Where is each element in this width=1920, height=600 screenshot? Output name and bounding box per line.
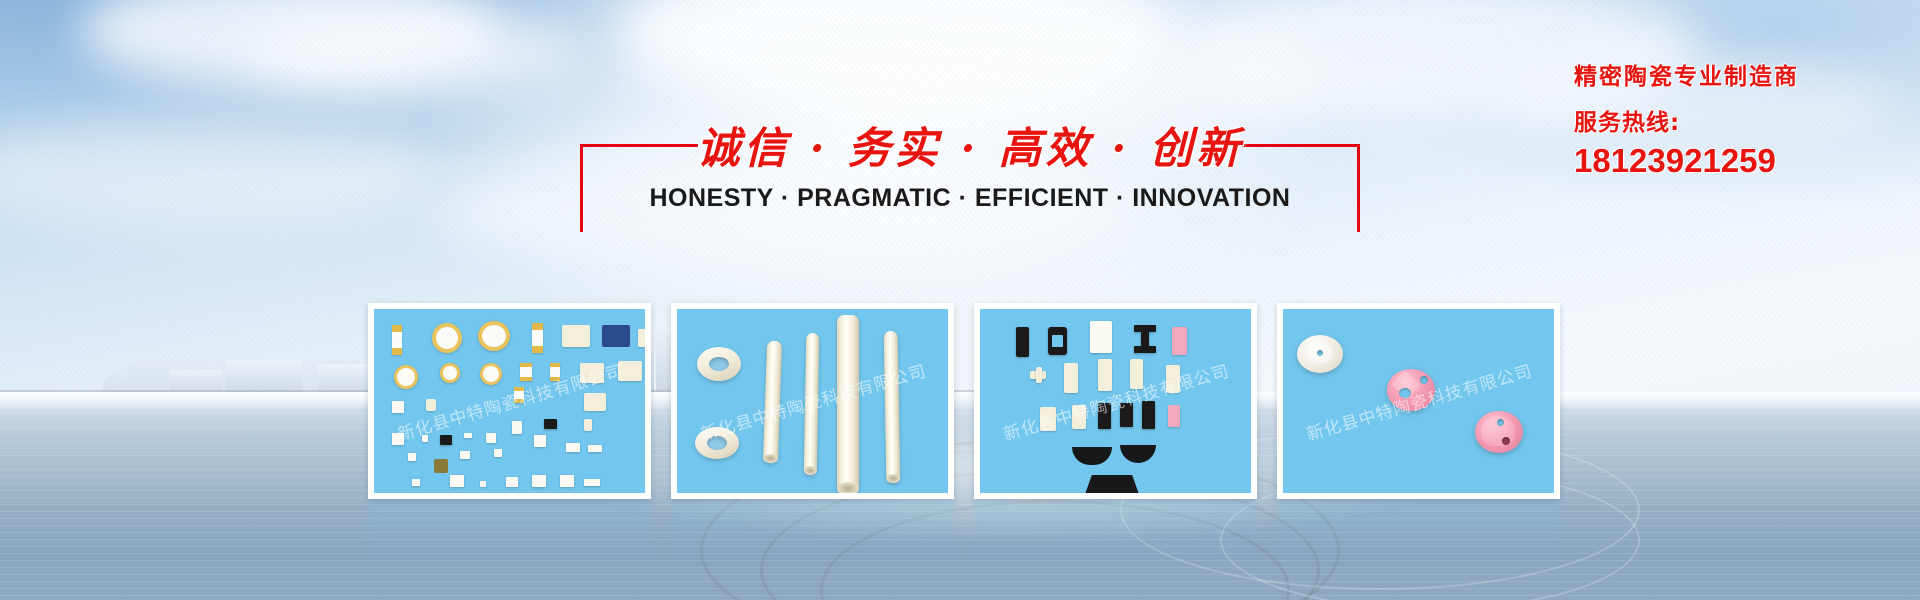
product-part — [1141, 331, 1149, 347]
product-part — [434, 459, 448, 473]
product-part — [426, 399, 436, 411]
product-part — [1052, 335, 1063, 347]
product-part — [480, 481, 486, 487]
product-part — [450, 475, 464, 487]
product-part — [480, 363, 502, 385]
product-part — [412, 479, 420, 486]
product-part — [1142, 401, 1155, 429]
product-part — [1134, 346, 1156, 353]
product-part — [1166, 365, 1180, 393]
product-part — [532, 475, 546, 487]
product-part — [1172, 327, 1187, 355]
slogan-chinese: 诚信 · 务实 · 高效 · 创新 — [580, 118, 1360, 180]
product-part — [584, 393, 606, 411]
product-part — [532, 323, 543, 353]
promotional-banner: 诚信 · 务实 · 高效 · 创新 HONESTY · PRAGMATIC · … — [0, 0, 1920, 600]
product-part — [695, 427, 739, 459]
panel-image-ceramic-discs: 新化县中特陶瓷科技有限公司 — [1283, 309, 1554, 493]
product-part — [602, 325, 630, 347]
contact-block: 精密陶瓷专业制造商 服务热线: 18123921259 — [1574, 62, 1914, 181]
product-panel-smd-ceramic-chips[interactable]: 新化县中特陶瓷科技有限公司 — [368, 303, 651, 499]
product-part — [560, 475, 574, 487]
product-part — [1120, 445, 1156, 463]
slogan-block: 诚信 · 务实 · 高效 · 创新 HONESTY · PRAGMATIC · … — [580, 118, 1360, 228]
product-part — [638, 329, 645, 347]
product-part — [1120, 403, 1133, 427]
product-part — [588, 445, 602, 452]
product-part — [534, 435, 546, 447]
product-part — [1387, 369, 1435, 411]
product-part — [562, 325, 590, 347]
product-panel-ceramic-discs[interactable]: 新化县中特陶瓷科技有限公司 — [1277, 303, 1560, 499]
product-part — [763, 341, 782, 463]
product-part — [580, 363, 604, 383]
product-part — [520, 363, 532, 381]
product-part — [464, 433, 472, 438]
product-part — [392, 433, 404, 445]
product-part — [584, 479, 600, 486]
product-part — [566, 443, 580, 452]
product-part — [1090, 321, 1112, 353]
panel-watermark: 新化县中特陶瓷科技有限公司 — [1000, 357, 1232, 446]
product-part — [697, 347, 741, 381]
product-part — [618, 361, 642, 381]
hotline-number[interactable]: 18123921259 — [1574, 141, 1914, 181]
panel-image-ceramic-blocks: 新化县中特陶瓷科技有限公司 — [980, 309, 1251, 493]
product-part — [584, 419, 592, 431]
product-part — [460, 451, 470, 459]
product-part — [837, 315, 859, 493]
product-part — [478, 321, 510, 351]
product-part — [506, 477, 518, 487]
product-part — [494, 449, 502, 457]
product-part — [1098, 359, 1112, 391]
product-part — [486, 433, 496, 443]
product-part — [804, 333, 819, 475]
product-part — [432, 323, 462, 353]
hotline-label: 服务热线: — [1574, 108, 1914, 138]
panel-image-ceramic-tubes: 新化县中特陶瓷科技有限公司 — [677, 309, 948, 493]
product-part — [392, 325, 402, 355]
product-part — [1475, 411, 1523, 453]
panel-image-smd-ceramic-chips: 新化县中特陶瓷科技有限公司 — [374, 309, 645, 493]
product-part — [1168, 405, 1180, 427]
product-part — [1064, 363, 1078, 393]
product-part — [1072, 447, 1112, 465]
product-part — [514, 387, 524, 403]
product-part — [512, 421, 522, 434]
product-part — [1297, 335, 1343, 373]
product-part — [392, 401, 404, 413]
product-part — [394, 365, 418, 389]
product-part — [440, 435, 452, 445]
product-panel-ceramic-tubes[interactable]: 新化县中特陶瓷科技有限公司 — [671, 303, 954, 499]
product-part — [1040, 407, 1056, 431]
product-part — [440, 363, 460, 383]
product-part — [408, 453, 416, 461]
product-part — [544, 419, 557, 429]
product-part — [422, 435, 428, 442]
product-part — [1036, 367, 1042, 383]
product-part — [1072, 405, 1086, 429]
product-part — [1016, 327, 1029, 357]
product-part — [550, 363, 560, 381]
product-part — [884, 331, 901, 483]
company-tagline: 精密陶瓷专业制造商 — [1574, 62, 1914, 92]
product-part — [1098, 403, 1111, 429]
slogan-english: HONESTY · PRAGMATIC · EFFICIENT · INNOVA… — [580, 184, 1360, 213]
product-panel-ceramic-blocks[interactable]: 新化县中特陶瓷科技有限公司 — [974, 303, 1257, 499]
product-part — [1130, 359, 1143, 389]
product-part — [1084, 475, 1140, 493]
product-panel-row: 新化县中特陶瓷科技有限公司 新化县中特陶瓷科技有限公司 — [368, 303, 1560, 499]
